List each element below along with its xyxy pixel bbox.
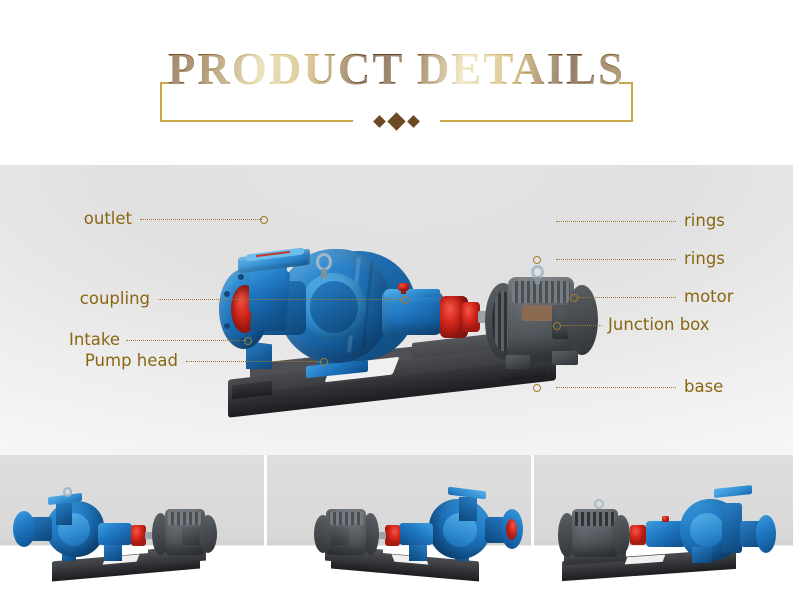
flange-bolt-2 — [224, 291, 230, 297]
product-showcase: outlet coupling Intake Pump head rings r… — [0, 165, 793, 455]
callout-motor-marker — [570, 294, 578, 302]
thumbnail-view-3[interactable] — [534, 455, 793, 602]
callout-intake-marker — [244, 337, 252, 345]
thumb3-oil-plug-icon — [662, 516, 669, 522]
thumb2-pedestal-b — [409, 543, 427, 561]
callout-pump-head-leader — [186, 361, 322, 362]
motor-lifting-eye-stem — [535, 277, 540, 284]
thumb1-suction-flange — [13, 511, 35, 547]
callout-junction-box-leader — [562, 325, 602, 326]
callout-motor-label: motor — [684, 287, 734, 306]
thumb3-pedestal — [692, 547, 712, 563]
callout-junction-box-label: Junction box — [608, 315, 710, 334]
thumbnail-view-2[interactable] — [267, 455, 531, 602]
header-banner: PRODUCT DETAILS — [0, 0, 793, 165]
oil-plug-stem — [401, 289, 406, 294]
thumb3-outlet-flange — [714, 485, 752, 498]
thumb1-discharge-pipe — [56, 503, 72, 525]
volute-center-recess — [310, 281, 358, 333]
thumb3-artwork — [534, 455, 793, 602]
thumb2-discharge-pipe — [459, 497, 477, 521]
flange-bolt-3 — [224, 323, 230, 329]
thumb1-junction-box — [182, 527, 200, 545]
thumbnail-strip — [0, 455, 793, 602]
diamond-icon-right — [407, 115, 420, 128]
motor-foot-right — [552, 351, 578, 365]
motor-nameplate — [522, 305, 552, 321]
bearing-housing — [382, 291, 444, 335]
thumb1-pedestal-b — [104, 543, 122, 561]
thumb3-coupling — [630, 525, 646, 545]
callout-rings-2-leader — [556, 259, 676, 260]
diamond-icon-center — [387, 112, 405, 130]
diamond-icon-left — [373, 115, 386, 128]
thumb3-motor-fins — [575, 512, 615, 526]
discharge-riser — [249, 265, 287, 313]
flange-bolt-1 — [238, 274, 244, 280]
callout-pump-head-marker — [320, 358, 328, 366]
thumb1-motor-rear — [199, 515, 217, 553]
thumb1-lifting-eye-icon — [63, 487, 72, 497]
callout-junction-box-marker — [553, 322, 561, 330]
thumb3-motor-rear — [612, 515, 630, 555]
callout-rings-2-label: rings — [684, 249, 725, 268]
thumb3-motor-lifting-eye-icon — [594, 499, 604, 509]
thumb2-artwork — [267, 455, 531, 602]
callout-pump-head-label: Pump head — [0, 351, 178, 370]
thumb3-suction-flange — [756, 515, 776, 553]
callout-coupling-marker — [401, 296, 409, 304]
callout-outlet-leader — [140, 219, 262, 220]
callout-base-leader — [556, 387, 676, 388]
lifting-eye-stem — [321, 269, 327, 279]
callout-motor-leader — [578, 297, 676, 298]
callout-coupling-leader — [158, 299, 403, 300]
callout-outlet-label: outlet — [0, 209, 132, 228]
title-frame: PRODUCT DETAILS — [160, 38, 633, 128]
diamond-divider — [160, 110, 633, 132]
motor-cooling-fins — [512, 281, 570, 303]
callout-base-marker — [533, 384, 541, 392]
product-details-page: PRODUCT DETAILS — [0, 0, 793, 602]
callout-outlet-marker — [260, 216, 268, 224]
thumb2-motor-fins — [329, 512, 363, 525]
thumb2-motor-rear — [314, 515, 332, 553]
callout-intake-label: Intake — [0, 330, 120, 349]
thumbnail-view-1[interactable] — [0, 455, 264, 602]
thumb2-junction-box — [331, 527, 349, 545]
thumb1-coupling — [131, 525, 146, 546]
thumb2-coupling — [385, 525, 400, 546]
thumb3-riser-pipe — [722, 503, 742, 553]
callout-rings-1-leader — [556, 221, 676, 222]
thumb2-suction-bore — [506, 519, 517, 540]
thumb1-motor-fins — [168, 512, 202, 525]
bearing-housing-top — [383, 289, 442, 297]
callout-rings-2-marker — [533, 256, 541, 264]
callout-intake-leader — [126, 340, 246, 341]
callout-base-label: base — [684, 377, 723, 396]
page-title: PRODUCT DETAILS — [160, 38, 633, 100]
thumb3-volute-boss — [690, 513, 724, 547]
motor-foot-left — [506, 355, 530, 369]
thumb1-artwork — [0, 455, 264, 602]
thumb2-bearing-housing — [399, 523, 433, 545]
thumb1-bearing-housing — [98, 523, 132, 545]
callout-coupling-label: coupling — [0, 289, 150, 308]
callout-rings-1-label: rings — [684, 211, 725, 230]
